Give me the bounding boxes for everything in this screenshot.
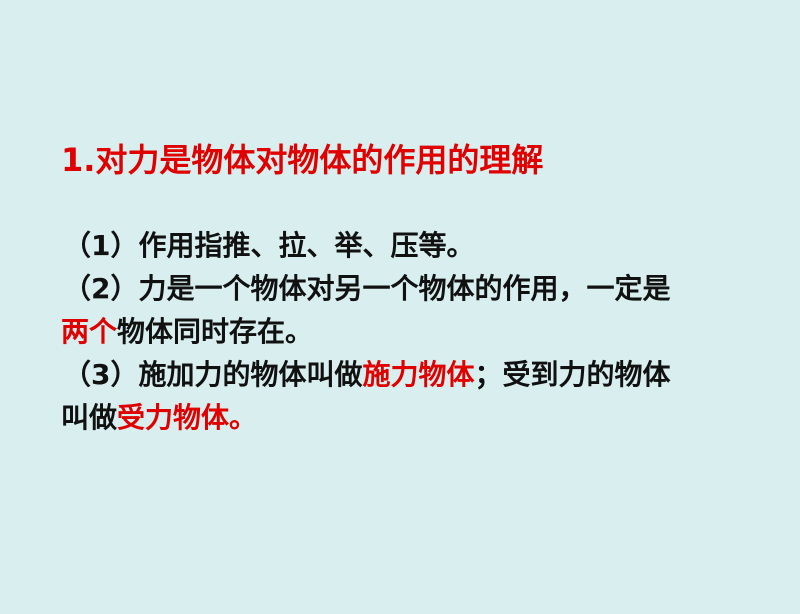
body-line-3-continuation: 叫做受力物体。 [61,396,761,439]
line-3-cont-highlight: 受力物体。 [117,401,257,434]
line-3-segment-3: ；受到力的物体 [475,358,671,391]
line-3-highlight: 施力物体 [362,358,474,391]
line-2-cont-highlight: 两个 [61,315,117,348]
line-2-cont-segment-2: 物体同时存在。 [117,315,313,348]
body-line-2: （2）力是一个物体对另一个物体的作用，一定是 [61,267,761,310]
line-1-segment-1: （1）作用指推、拉、举、压等。 [63,229,474,262]
page-title: 1.对力是物体对物体的作用的理解 [61,139,543,181]
line-3-cont-segment-1: 叫做 [61,401,117,434]
body-text-block: （1）作用指推、拉、举、压等。 （2）力是一个物体对另一个物体的作用，一定是 两… [61,224,761,439]
slide-canvas: 1.对力是物体对物体的作用的理解 （1）作用指推、拉、举、压等。 （2）力是一个… [0,0,800,614]
body-line-1: （1）作用指推、拉、举、压等。 [61,224,761,267]
body-line-2-continuation: 两个物体同时存在。 [61,310,761,353]
line-3-segment-1: （3）施加力的物体叫做 [63,358,362,391]
line-2-segment-1: （2）力是一个物体对另一个物体的作用，一定是 [63,272,671,305]
body-line-3: （3）施加力的物体叫做施力物体；受到力的物体 [61,353,761,396]
